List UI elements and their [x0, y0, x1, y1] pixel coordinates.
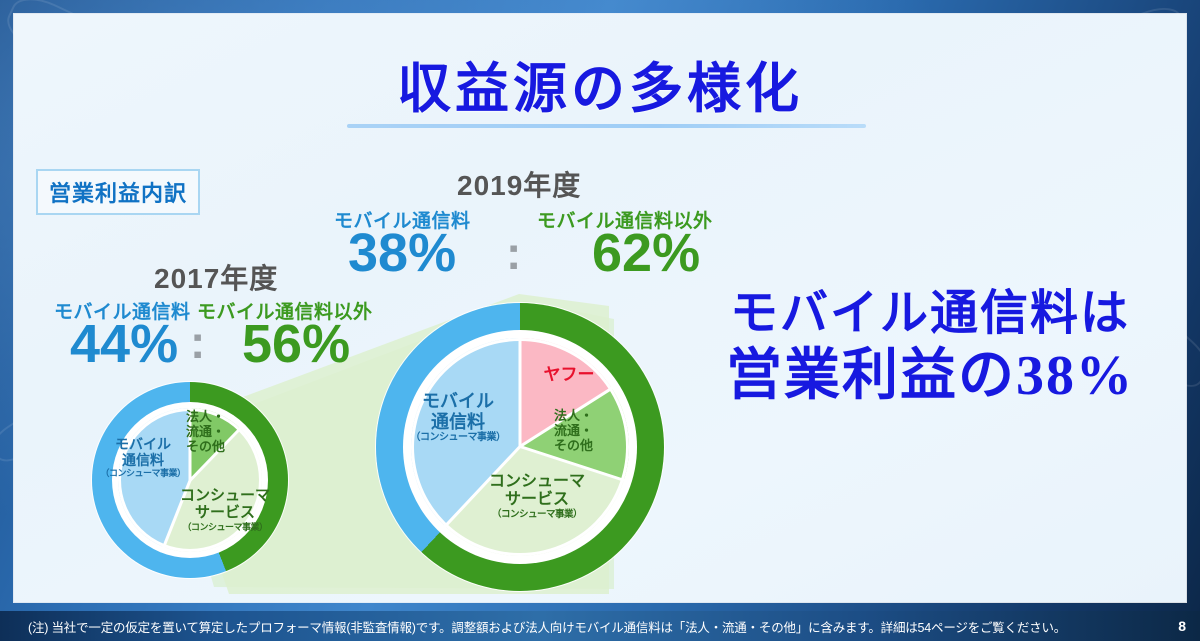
page-number: 8 — [1178, 618, 1200, 634]
fy2017-separator: : — [190, 319, 205, 365]
fy2017-donut-chart: モバイル 通信料 （コンシューマ事業） 法人・ 流通・ その他 コンシューマ サ… — [92, 382, 288, 578]
fy2019-other-percent: 62% — [592, 226, 700, 280]
highlight-callout: モバイル通信料は 営業利益の38% — [674, 286, 1186, 409]
badge-label: 営業利益内訳 — [49, 176, 187, 208]
fy2019-donut-chart: モバイル 通信料 （コンシューマ事業） ヤフー 法人・ 流通・ その他 コンシュ… — [376, 303, 664, 591]
fy2019-segment-mobile: モバイル 通信料 （コンシューマ事業） — [398, 391, 518, 444]
fy2019-mobile-percent: 38% — [348, 226, 456, 280]
footnote-text: (注) 当社で一定の仮定を置いて算定したプロフォーマ情報(非監査情報)です。調整… — [0, 617, 1178, 636]
footer-bar: (注) 当社で一定の仮定を置いて算定したプロフォーマ情報(非監査情報)です。調整… — [0, 611, 1200, 641]
fy2019-segment-corporate: 法人・ 流通・ その他 — [554, 409, 616, 454]
callout-line-2: 営業利益の38% — [674, 343, 1186, 409]
fy2019-year-label: 2019年度 — [457, 164, 581, 204]
fy2017-segment-corporate: 法人・ 流通・ その他 — [186, 410, 242, 455]
fy2019-separator: : — [506, 230, 521, 276]
title-divider — [347, 124, 866, 128]
callout-line-1: モバイル通信料は — [674, 286, 1186, 343]
fy2019-inner-separator — [519, 337, 522, 447]
fy2017-segment-consumer: コンシューマ サービス （コンシューマ事業） — [170, 487, 280, 532]
slide-frame: 収益源の多様化 営業利益内訳 2017年度 モバイル通信料 モバイル通信料以外 … — [0, 0, 1200, 641]
status-badge: 営業利益内訳 — [36, 169, 200, 215]
fy2017-year-label: 2017年度 — [154, 257, 278, 297]
fy2019-segment-yahoo: ヤフー — [526, 365, 612, 385]
fy2017-mobile-percent: 44% — [70, 317, 178, 371]
fy2017-segment-mobile: モバイル 通信料 （コンシューマ事業） — [100, 436, 186, 479]
slide-canvas: 収益源の多様化 営業利益内訳 2017年度 モバイル通信料 モバイル通信料以外 … — [14, 14, 1186, 602]
page-title: 収益源の多様化 — [14, 44, 1186, 123]
fy2017-other-percent: 56% — [242, 317, 350, 371]
fy2019-segment-consumer: コンシューマ サービス （コンシューマ事業） — [472, 473, 602, 521]
